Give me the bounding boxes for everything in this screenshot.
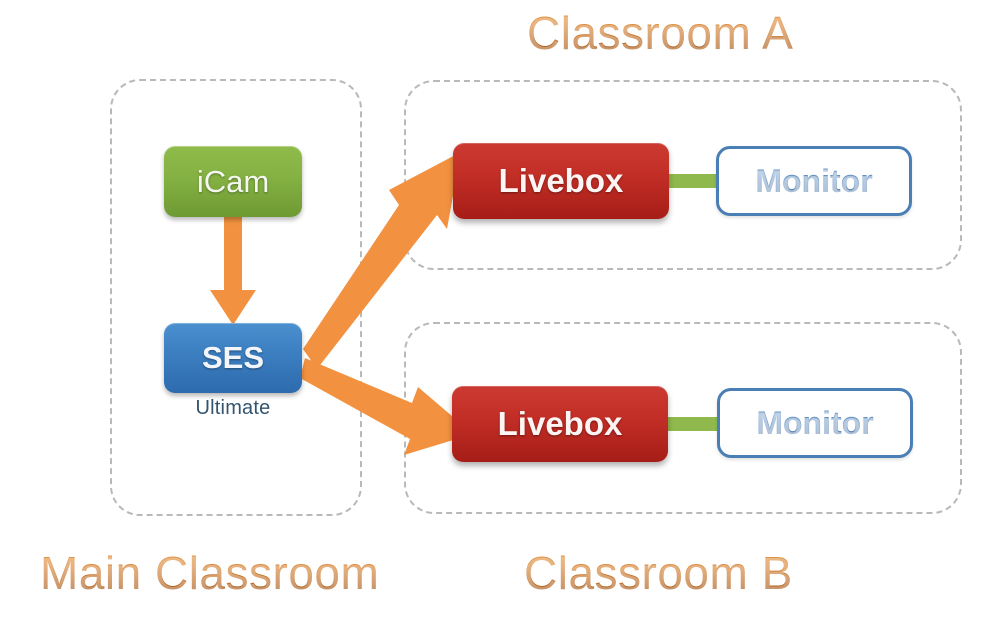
node-icam-label: iCam <box>197 164 269 200</box>
node-livebox-b-label: Livebox <box>498 405 623 443</box>
network-topology-diagram: iCam SES Ultimate Livebox Monitor Livebo… <box>0 0 999 617</box>
connector-livebox-a-to-monitor-a <box>668 174 718 188</box>
node-livebox-b[interactable]: Livebox <box>452 386 668 462</box>
zone-main-classroom <box>110 79 362 516</box>
title-classroom-a: Classroom A <box>527 6 793 60</box>
connector-livebox-b-to-monitor-b <box>667 417 719 431</box>
node-monitor-b-label: Monitor <box>756 405 873 442</box>
node-ses-label: SES <box>202 340 264 376</box>
node-monitor-a-label: Monitor <box>755 163 872 200</box>
node-icam[interactable]: iCam <box>164 146 302 217</box>
node-monitor-b[interactable]: Monitor <box>717 388 913 458</box>
node-ses-sublabel: Ultimate <box>164 397 302 420</box>
node-livebox-a[interactable]: Livebox <box>453 143 669 219</box>
node-monitor-a[interactable]: Monitor <box>716 146 912 216</box>
node-ses[interactable]: SES <box>164 323 302 393</box>
node-livebox-a-label: Livebox <box>499 162 624 200</box>
title-classroom-b: Classroom B <box>524 546 793 600</box>
title-main-classroom: Main Classroom <box>40 546 379 600</box>
